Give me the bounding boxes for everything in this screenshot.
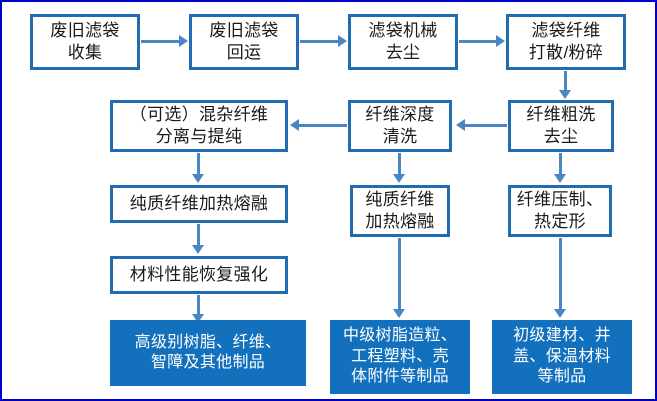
arrowhead-mechanical-to-fiberbreak	[496, 35, 505, 47]
node-transport[interactable]: 废旧滤袋 回运	[189, 14, 299, 70]
connector-deepclean-to-separation	[299, 124, 347, 127]
arrowhead-roughwash-to-press	[554, 174, 566, 183]
node-optional-separation[interactable]: （可选）混杂纤维 分离与提纯	[110, 100, 288, 152]
connector-collect-to-transport	[141, 40, 179, 43]
arrowhead-collect-to-transport	[179, 35, 188, 47]
arrowhead-roughwash-to-deepclean	[456, 119, 465, 131]
node-press-heatset[interactable]: 纤维压制、 热定形	[508, 185, 612, 237]
connector-restore-to-product-high	[197, 295, 200, 315]
node-collect[interactable]: 废旧滤袋 收集	[30, 14, 140, 70]
connector-melt-mid-to-product-mid	[398, 238, 401, 310]
connector-press-to-product-low	[559, 238, 562, 310]
node-product-low-grade[interactable]: 初级建材、井 盖、保温材料 等制品	[492, 320, 632, 394]
connector-fiberbreak-to-roughwash	[564, 71, 567, 92]
connector-deepclean-to-melt-mid	[398, 153, 401, 175]
node-mechanical-dedust[interactable]: 滤袋机械 去尘	[348, 14, 458, 70]
arrowhead-deepclean-to-melt-mid	[393, 174, 405, 183]
arrowhead-melt-mid-to-product-mid	[393, 309, 405, 318]
node-deep-clean[interactable]: 纤维深度 清洗	[348, 100, 452, 152]
arrowhead-melt-left-to-restore	[192, 245, 204, 254]
arrowhead-fiberbreak-to-roughwash	[559, 90, 571, 99]
node-product-high-grade[interactable]: 高级别树脂、纤维、 智障及其他制品	[110, 320, 306, 386]
flowchart-canvas: 废旧滤袋 收集 废旧滤袋 回运 滤袋机械 去尘 滤袋纤维 打散/粉碎 （可选）混…	[0, 0, 657, 401]
node-pure-fiber-melt-left[interactable]: 纯质纤维加热熔融	[110, 185, 288, 223]
arrowhead-separation-to-melt-left	[192, 174, 204, 183]
connector-mechanical-to-fiberbreak	[459, 40, 496, 43]
node-performance-restore[interactable]: 材料性能恢复强化	[110, 256, 288, 294]
connector-melt-left-to-restore	[197, 224, 200, 246]
connector-roughwash-to-deepclean	[465, 124, 507, 127]
arrowhead-press-to-product-low	[554, 309, 566, 318]
connector-roughwash-to-press	[559, 153, 562, 175]
node-rough-wash[interactable]: 纤维粗洗 去尘	[508, 100, 614, 152]
node-product-mid-grade[interactable]: 中级树脂造粒、 工程塑料、壳 体附件等制品	[330, 320, 470, 394]
connector-transport-to-mechanical	[300, 40, 338, 43]
node-pure-fiber-melt-mid[interactable]: 纯质纤维 加热熔融	[350, 185, 450, 237]
arrowhead-deepclean-to-separation	[290, 119, 299, 131]
connector-separation-to-melt-left	[197, 153, 200, 175]
arrowhead-transport-to-mechanical	[338, 35, 347, 47]
node-fiber-break[interactable]: 滤袋纤维 打散/粉碎	[506, 14, 626, 70]
